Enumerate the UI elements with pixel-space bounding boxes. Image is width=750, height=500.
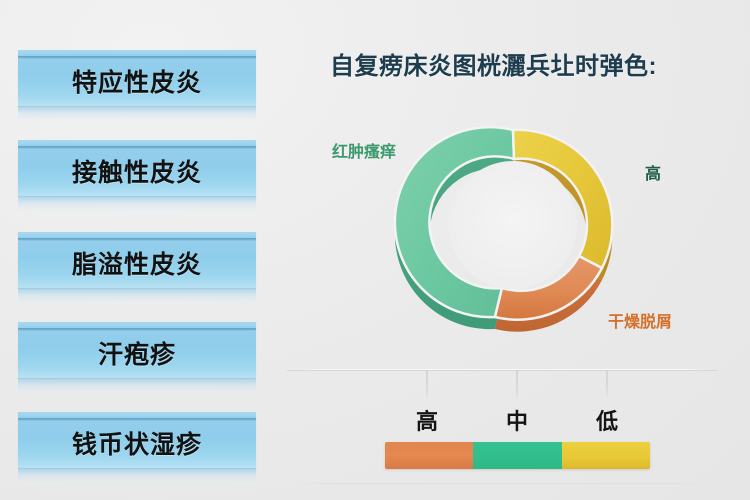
chart-panel: 自复痨床炎图桄灑兵圵时弹色: [285, 0, 750, 500]
donut-chart-svg [285, 0, 750, 360]
card-reflection [18, 468, 256, 488]
list-item-label: 汗疱疹 [18, 322, 256, 378]
scale-label-low: 低 [596, 404, 618, 436]
scale-tick-high [426, 370, 428, 400]
scale-bar-segment-low[interactable] [562, 442, 650, 469]
list-item[interactable]: 钱币状湿疹 [18, 412, 256, 488]
list-item-label: 脂溢性皮炎 [18, 232, 256, 288]
donut-hole [449, 161, 577, 289]
donut-chart: 红肿瘙痒 高 干燥脱屑 [285, 0, 750, 360]
scale-underline [293, 483, 723, 484]
list-item[interactable]: 特应性皮炎 [18, 50, 256, 126]
scale-label-high: 高 [416, 404, 438, 436]
disease-card-body-1[interactable]: 接触性皮炎 [18, 140, 256, 196]
scale-label-mid: 中 [506, 404, 528, 436]
scale-bar-segment-mid[interactable] [473, 442, 561, 469]
card-reflection [18, 288, 256, 308]
list-item[interactable]: 汗疱疹 [18, 322, 256, 398]
list-item[interactable]: 接触性皮炎 [18, 140, 256, 216]
donut-label-green: 红肿瘙痒 [332, 138, 396, 162]
donut-label-orange: 干燥脱屑 [608, 308, 672, 332]
scale-gradient-bar[interactable] [385, 442, 650, 469]
disease-card-body-3[interactable]: 汗疱疹 [18, 322, 256, 378]
disease-card-body-4[interactable]: 钱币状湿疹 [18, 412, 256, 468]
list-item[interactable]: 脂溢性皮炎 [18, 232, 256, 308]
card-reflection [18, 196, 256, 216]
card-reflection [18, 378, 256, 398]
card-reflection [18, 106, 256, 126]
list-item-label: 特应性皮炎 [18, 50, 256, 106]
scale-baseline [287, 369, 717, 370]
slide-root: 特应性皮炎 接触性皮炎 脂溢性皮炎 汗疱疹 钱币状湿疹 [0, 0, 750, 500]
list-item-label: 钱币状湿疹 [18, 412, 256, 468]
scale-tick-mid [516, 370, 518, 400]
disease-card-body-0[interactable]: 特应性皮炎 [18, 50, 256, 106]
donut-3d-top [395, 127, 612, 320]
scale-tick-low [606, 370, 608, 400]
scale-bar-segment-high[interactable] [385, 442, 473, 469]
severity-scale: 高 中 低 [285, 355, 750, 500]
disease-list: 特应性皮炎 接触性皮炎 脂溢性皮炎 汗疱疹 钱币状湿疹 [0, 0, 285, 500]
disease-card-body-2[interactable]: 脂溢性皮炎 [18, 232, 256, 288]
donut-label-yellow: 高 [645, 160, 661, 184]
list-item-label: 接触性皮炎 [18, 140, 256, 196]
